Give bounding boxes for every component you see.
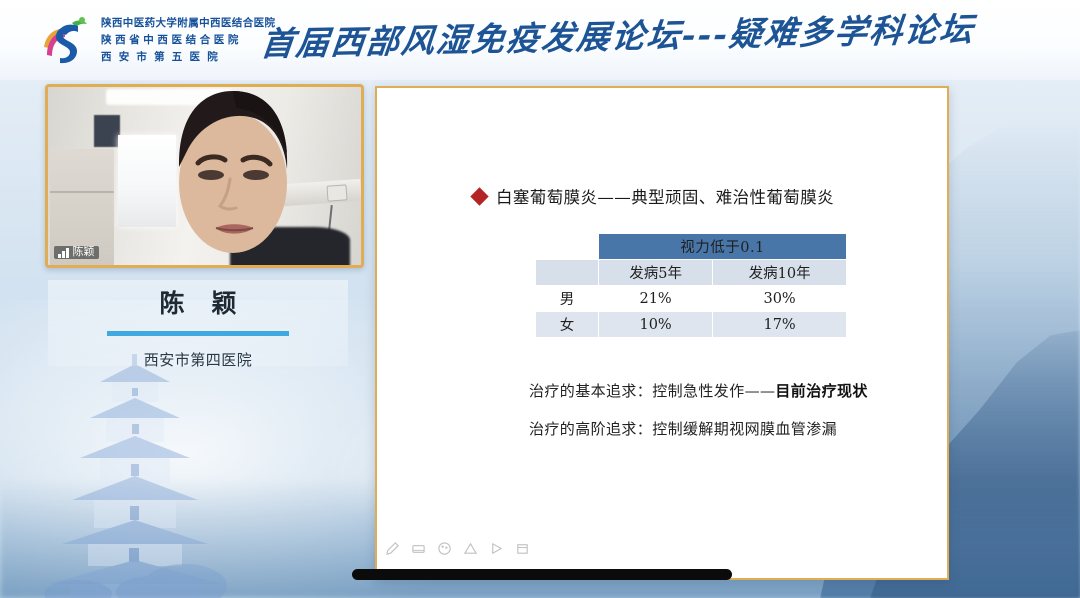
video-frame-image (48, 87, 361, 265)
table-column-header-5y: 发病5年 (599, 260, 713, 286)
hospital-name-line-2: 陕西省中西医结合医院 (101, 32, 275, 47)
video-wall-socket (326, 184, 347, 201)
table-row-label-male: 男 (536, 286, 599, 312)
forum-title: 首届西部风湿免疫发展论坛---疑难多学科论坛 (259, 3, 978, 66)
table-corner-cell (536, 234, 599, 260)
slide-heading-row: 白塞葡萄膜炎——典型顽固、难治性葡萄膜炎 (473, 184, 834, 208)
speaker-name: 陈 颖 (48, 280, 348, 320)
hospital-name-line-3: 西安市第五医院 (101, 49, 275, 64)
pagoda-illustration (40, 348, 230, 598)
presentation-slide[interactable]: 白塞葡萄膜炎——典型顽固、难治性葡萄膜炎 视力低于0.1 发病5年 发病10年 … (375, 86, 949, 580)
table-cell-male-5y: 21% (599, 286, 713, 312)
hospital-logo: 陕西中医药大学附属中西医结合医院 陕西省中西医结合医院 西安市第五医院 (38, 13, 275, 65)
slide-content: 白塞葡萄膜炎——典型顽固、难治性葡萄膜炎 视力低于0.1 发病5年 发病10年 … (377, 88, 947, 578)
speaker-divider (107, 331, 289, 336)
participant-name-label: 陈颖 (73, 247, 95, 258)
participant-name-badge: 陈颖 (54, 246, 99, 259)
hospital-name-line-1: 陕西中医药大学附属中西医结合医院 (101, 15, 275, 30)
eraser-icon[interactable] (411, 541, 426, 556)
hospital-logo-icon (38, 13, 94, 65)
table-title-cell: 视力低于0.1 (599, 234, 847, 260)
slide-heading-text: 白塞葡萄膜炎——典型顽固、难治性葡萄膜炎 (496, 184, 834, 208)
hospital-logo-text: 陕西中医药大学附属中西医结合医院 陕西省中西医结合医院 西安市第五医院 (101, 15, 275, 64)
speaker-info-card: 陈 颖 西安市第四医院 (48, 280, 348, 366)
table-column-header-10y: 发病10年 (713, 260, 847, 286)
shape-icon[interactable] (463, 541, 478, 556)
table-cell-female-10y: 17% (713, 312, 847, 338)
table-cell-male-10y: 30% (713, 286, 847, 312)
slide-note-basic-goal: 治疗的基本追求：控制急性发作——目前治疗现状 (529, 380, 868, 401)
scrollbar-thumb[interactable] (352, 569, 732, 580)
slide-note-basic-goal-emphasis: 目前治疗现状 (775, 382, 867, 400)
table-row: 男 21% 30% (536, 286, 847, 312)
slide-note-advanced-goal: 治疗的高阶追求：控制缓解期视网膜血管渗漏 (529, 418, 837, 439)
annotation-toolbar[interactable] (385, 541, 530, 556)
table-row-subheader: 发病5年 发病10年 (536, 260, 847, 286)
table-subheader-blank (536, 260, 599, 286)
table-row: 女 10% 17% (536, 312, 847, 338)
table-row-title: 视力低于0.1 (536, 234, 847, 260)
pen-icon[interactable] (385, 541, 400, 556)
note-icon[interactable] (515, 541, 530, 556)
video-dark-panel (94, 115, 120, 147)
arrow-pointer-icon[interactable] (489, 541, 504, 556)
table-cell-female-5y: 10% (599, 312, 713, 338)
palette-icon[interactable] (437, 541, 452, 556)
screen: 陕西中医药大学附属中西医结合医院 陕西省中西医结合医院 西安市第五医院 首届西部… (0, 0, 1080, 598)
speaker-organization: 西安市第四医院 (48, 349, 348, 370)
table-row-label-female: 女 (536, 312, 599, 338)
horizontal-scrollbar[interactable] (352, 569, 732, 580)
signal-bars-icon (58, 248, 69, 258)
event-header-bar: 陕西中医药大学附属中西医结合医院 陕西省中西医结合医院 西安市第五医院 首届西部… (0, 0, 1080, 80)
vision-loss-table: 视力低于0.1 发病5年 发病10年 男 21% 30% 女 10% (535, 233, 847, 338)
participant-video-tile[interactable]: 陈颖 (45, 84, 364, 268)
diamond-bullet-icon (470, 187, 488, 205)
slide-note-basic-goal-plain: 治疗的基本追求：控制急性发作—— (529, 382, 775, 400)
video-presenter-face (158, 84, 308, 268)
